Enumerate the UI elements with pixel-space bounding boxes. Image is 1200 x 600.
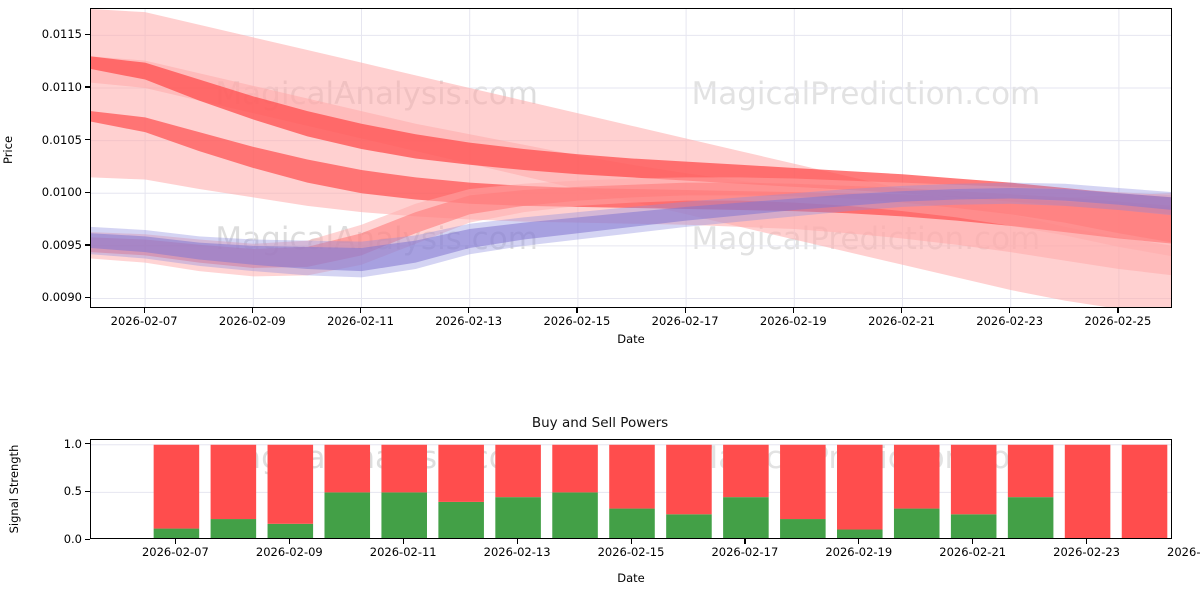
power-x-tick-mark (972, 539, 973, 544)
power-x-tick: 2026-02-09 (256, 545, 323, 559)
buy-sell-powers-chart: Buy and Sell Powers MagicalAnalysis.comM… (0, 415, 1200, 600)
price-x-tick-mark (576, 308, 577, 313)
price-x-tick: 2026-02-13 (435, 314, 502, 328)
power-x-tick: 2026-02-23 (1053, 545, 1120, 559)
power-x-tick: 2026-02-13 (484, 545, 551, 559)
power-x-tick-mark (517, 539, 518, 544)
power-x-tick-mark (289, 539, 290, 544)
price-x-tick: 2026-02-17 (652, 314, 719, 328)
price-y-tick: 0.0105 (30, 133, 82, 147)
price-x-tick-mark (1009, 308, 1010, 313)
power-x-tick: 2026-02-21 (939, 545, 1006, 559)
price-y-axis-label: Price (1, 136, 15, 164)
price-x-tick: 2026-02-25 (1084, 314, 1151, 328)
price-y-tick-mark (85, 244, 90, 245)
price-y-tick: 0.0090 (30, 290, 82, 304)
price-x-tick-mark (793, 308, 794, 313)
chart-page: SIX (SIX) Price Wave Trend Analysis (Feb… (0, 0, 1200, 600)
price-y-tick-mark (85, 297, 90, 298)
price-y-tick: 0.0095 (30, 238, 82, 252)
power-x-tick-mark (631, 539, 632, 544)
power-y-tick-mark (85, 443, 90, 444)
power-y-tick-mark (85, 491, 90, 492)
power-y-tick: 0.5 (40, 484, 82, 498)
power-y-tick: 0.0 (40, 532, 82, 546)
price-svg: MagicalAnalysis.comMagicalPrediction.com… (91, 9, 1172, 308)
price-wave-chart: MagicalAnalysis.comMagicalPrediction.com… (0, 0, 1200, 345)
price-x-tick-mark (1117, 308, 1118, 313)
power-x-tick-mark (403, 539, 404, 544)
price-y-tick-mark (85, 34, 90, 35)
power-y-axis-label: Signal Strength (7, 445, 21, 534)
price-y-tick-mark (85, 86, 90, 87)
price-y-tick: 0.0110 (30, 80, 82, 94)
power-plot-area: MagicalAnalysis.comMagicalPrediction.com (90, 439, 1172, 539)
price-y-tick: 0.0100 (30, 185, 82, 199)
price-x-tick-mark (901, 308, 902, 313)
power-svg: MagicalAnalysis.comMagicalPrediction.com (91, 440, 1172, 539)
price-x-tick-mark (468, 308, 469, 313)
price-x-tick-mark (144, 308, 145, 313)
price-x-tick: 2026-02-23 (976, 314, 1043, 328)
price-x-tick: 2026-02-15 (543, 314, 610, 328)
power-chart-title: Buy and Sell Powers (0, 415, 1200, 431)
power-y-tick: 1.0 (40, 437, 82, 451)
price-x-tick: 2026-02-09 (219, 314, 286, 328)
price-x-tick-mark (252, 308, 253, 313)
power-x-tick-mark (1086, 539, 1087, 544)
price-y-tick-mark (85, 139, 90, 140)
price-x-tick: 2026-02-21 (868, 314, 935, 328)
price-x-tick: 2026-02-07 (111, 314, 178, 328)
power-y-tick-mark (85, 539, 90, 540)
price-y-tick: 0.0115 (30, 27, 82, 41)
price-x-axis-label: Date (617, 332, 645, 346)
power-x-tick-mark (744, 539, 745, 544)
power-x-tick: 2026-02-15 (598, 545, 665, 559)
power-x-tick-mark (175, 539, 176, 544)
power-x-tick: 2026-02-25 (1167, 545, 1200, 559)
power-x-tick: 2026-02-19 (825, 545, 892, 559)
price-plot-area: MagicalAnalysis.comMagicalPrediction.com… (90, 8, 1172, 308)
price-x-tick: 2026-02-19 (760, 314, 827, 328)
svg-text:MagicalPrediction.com: MagicalPrediction.com (692, 76, 1041, 112)
price-y-tick-mark (85, 192, 90, 193)
price-x-tick-mark (685, 308, 686, 313)
price-x-tick: 2026-02-11 (327, 314, 394, 328)
power-x-tick-mark (858, 539, 859, 544)
power-x-tick: 2026-02-11 (370, 545, 437, 559)
power-x-tick: 2026-02-17 (711, 545, 778, 559)
power-x-axis-label: Date (617, 571, 645, 585)
price-x-tick-mark (360, 308, 361, 313)
svg-text:MagicalAnalysis.com: MagicalAnalysis.com (215, 440, 537, 476)
power-x-tick: 2026-02-07 (142, 545, 209, 559)
